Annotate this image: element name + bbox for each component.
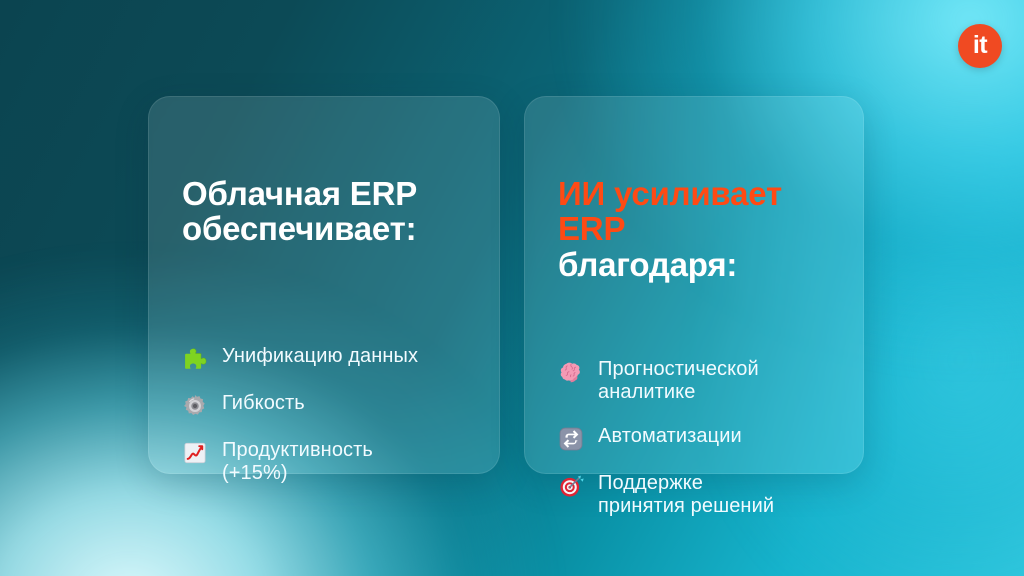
card-ai-erp-title-main: благодаря: [558,247,832,283]
card-ai-erp-list: Прогностической аналитике Автоматизации [558,358,832,518]
card-ai-erp-title-accent: ИИ усиливает ERP [558,175,782,248]
card-cloud-erp-title-main: Облачная ERP обеспечивает: [182,176,468,247]
list-item-label: Продуктивность (+15%) [222,439,373,485]
list-item-label: Прогностической аналитике [598,358,759,404]
card-cloud-erp-title: Облачная ERP обеспечивает: [182,140,468,283]
list-item-label: Поддержке принятия решений [598,472,774,518]
card-cloud-erp: Облачная ERP обеспечивает: Унификацию да… [148,96,500,474]
card-ai-erp-title: ИИ усиливает ERP благодаря: [558,140,832,318]
it-logo[interactable]: it [958,24,1002,68]
puzzle-piece-icon [182,346,208,372]
list-item: Автоматизации [558,425,832,452]
list-item: Гибкость [182,392,468,419]
list-item-label: Автоматизации [598,425,742,448]
card-ai-erp: ИИ усиливает ERP благодаря: [524,96,864,474]
chart-increasing-icon [182,440,208,466]
list-item-label: Гибкость [222,392,305,415]
slide-canvas: it Облачная ERP обеспечивает: Унификацию… [0,0,1024,576]
brain-icon [558,359,584,385]
card-cloud-erp-list: Унификацию данных Гибкость [182,345,468,485]
list-item: Поддержке принятия решений [558,472,832,518]
repeat-icon [558,426,584,452]
dart-target-icon [558,473,584,499]
list-item: Прогностической аналитике [558,358,832,404]
list-item-label: Унификацию данных [222,345,418,368]
list-item: Продуктивность (+15%) [182,439,468,485]
gear-icon [182,393,208,419]
it-logo-text: it [973,33,987,58]
list-item: Унификацию данных [182,345,468,372]
